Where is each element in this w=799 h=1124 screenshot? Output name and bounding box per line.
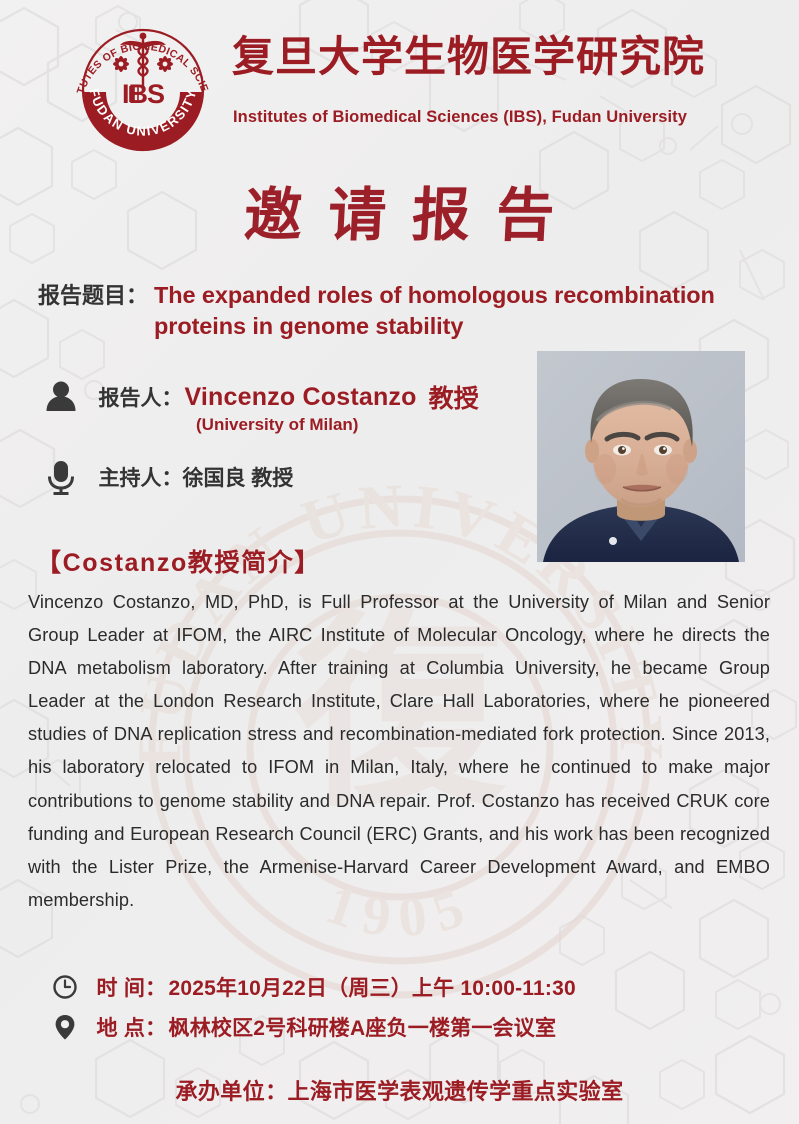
- organization-name-en: Institutes of Biomedical Sciences (IBS),…: [233, 108, 687, 127]
- bio-heading: 【Costanzo教授简介】: [36, 543, 321, 579]
- bio-text: Vincenzo Costanzo, MD, PhD, is Full Prof…: [28, 586, 770, 917]
- microphone-icon: [44, 458, 78, 496]
- poster-header: INSTITUTES OF BIOMEDICAL SCIENCES FUDAN …: [0, 0, 799, 160]
- talk-title-label: 报告题目：: [38, 280, 148, 312]
- person-icon: [44, 378, 78, 416]
- time-row: 时 间：2025年10月22日（周三）上午 10:00-11:30: [52, 972, 576, 1002]
- logo-ibs-text: IBS: [122, 79, 164, 109]
- host-row: 主持人：徐国良 教授: [44, 458, 293, 496]
- location-pin-icon: [52, 1013, 78, 1041]
- talk-title-text: The expanded roles of homologous recombi…: [154, 280, 762, 342]
- time-value: 2025年10月22日（周三）上午 10:00-11:30: [169, 972, 576, 1002]
- speaker-row: 报告人：Vincenzo Costanzo教授: [44, 378, 479, 416]
- ibs-fudan-logo: INSTITUTES OF BIOMEDICAL SCIENCES FUDAN …: [68, 16, 218, 156]
- host-label: 主持人：: [98, 462, 182, 492]
- place-row: 地 点：枫林校区2号科研楼A座负一楼第一会议室: [52, 1012, 556, 1042]
- talk-title-row: 报告题目：The expanded roles of homologous re…: [38, 280, 768, 342]
- time-label: 时 间：: [96, 972, 166, 1002]
- poster-canvas: FUDAN UNIVERSITY 1905 復 INSTITUTES OF BI…: [0, 0, 799, 1124]
- place-label: 地 点：: [96, 1012, 166, 1042]
- speaker-portrait: [537, 351, 745, 562]
- organization-name-cn: 复旦大学生物医学研究院: [232, 36, 705, 78]
- invite-title: 邀请报告: [0, 168, 799, 252]
- speaker-name: Vincenzo Costanzo: [184, 383, 416, 412]
- speaker-affiliation: (University of Milan): [44, 415, 358, 435]
- speaker-label: 报告人：: [98, 382, 182, 412]
- place-value: 枫林校区2号科研楼A座负一楼第一会议室: [169, 1012, 557, 1042]
- clock-icon: [52, 973, 78, 1001]
- speaker-title-cn: 教授: [429, 379, 479, 415]
- organizer-line: 承办单位：上海市医学表观遗传学重点实验室: [0, 1074, 799, 1106]
- host-name: 徐国良 教授: [182, 462, 293, 492]
